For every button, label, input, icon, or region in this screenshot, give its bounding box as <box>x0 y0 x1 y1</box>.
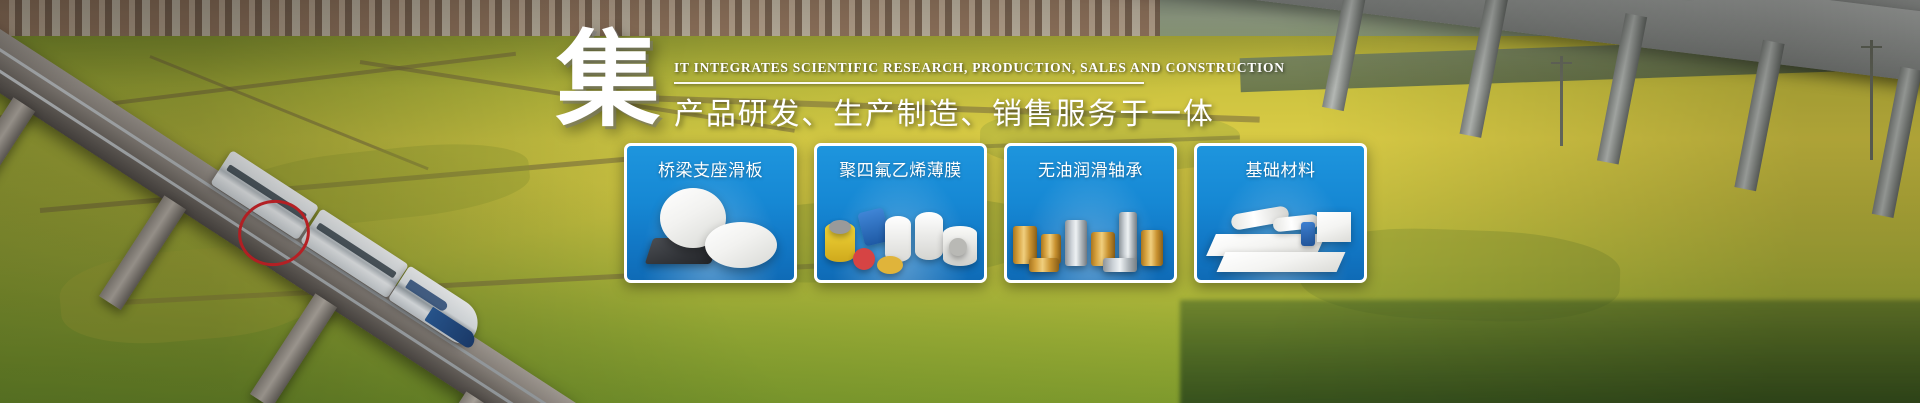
product-card-oilless-bearing[interactable]: 无油润滑轴承 <box>1004 143 1177 283</box>
film-roll-core <box>829 220 851 234</box>
bronze-bushing <box>1141 230 1163 266</box>
material-block <box>1317 212 1351 242</box>
product-card-title: 聚四氟乙烯薄膜 <box>817 156 984 181</box>
headline-block: 集 IT INTEGRATES SCIENTIFIC RESEARCH, PRO… <box>556 20 1285 133</box>
rail-pier <box>250 293 337 403</box>
product-card-base-material[interactable]: 基础材料 <box>1194 143 1367 283</box>
headline-english-tagline: IT INTEGRATES SCIENTIFIC RESEARCH, PRODU… <box>674 60 1285 76</box>
film-roll-white <box>915 212 943 260</box>
road-pier <box>1872 67 1920 218</box>
film-roll-core <box>949 238 967 256</box>
slide-plate-disc <box>705 222 777 268</box>
headline-text-group: IT INTEGRATES SCIENTIFIC RESEARCH, PRODU… <box>674 60 1285 133</box>
hero-banner: 集 IT INTEGRATES SCIENTIFIC RESEARCH, PRO… <box>0 0 1920 403</box>
film-ring-red <box>853 248 875 270</box>
product-card-image-base-material <box>1197 182 1364 280</box>
headline-divider-rule <box>674 82 1144 84</box>
utility-pole <box>1870 40 1873 160</box>
product-card-image-oilless-bearing <box>1007 182 1174 280</box>
rail-pier <box>0 97 35 212</box>
steel-bushing <box>1103 258 1137 272</box>
product-card-list: 桥梁支座滑板 聚四氟乙烯薄膜 无油润滑轴 <box>624 143 1367 283</box>
product-card-title: 桥梁支座滑板 <box>627 156 794 181</box>
product-card-ptfe-film[interactable]: 聚四氟乙烯薄膜 <box>814 143 987 283</box>
material-label-blue <box>1301 222 1315 246</box>
roadside-scrub <box>1180 300 1920 403</box>
bronze-bushing <box>1029 258 1059 272</box>
headline-chinese-subtitle: 产品研发、生产制造、销售服务于一体 <box>674 89 1285 133</box>
product-card-title: 无油润滑轴承 <box>1007 156 1174 181</box>
product-card-title: 基础材料 <box>1197 156 1364 181</box>
product-card-image-bearing-slide-plate <box>627 182 794 280</box>
rail-pier <box>99 195 186 310</box>
product-card-bridge-bearing-slide-plate[interactable]: 桥梁支座滑板 <box>624 143 797 283</box>
steel-bushing <box>1065 220 1087 266</box>
utility-pole <box>1560 56 1563 146</box>
product-card-image-ptfe-film <box>817 182 984 280</box>
material-sheet <box>1217 252 1346 272</box>
road-pier <box>1734 40 1784 191</box>
film-ring-gold <box>877 256 903 274</box>
road-pier <box>1322 0 1372 111</box>
headline-big-character: 集 <box>556 28 660 132</box>
